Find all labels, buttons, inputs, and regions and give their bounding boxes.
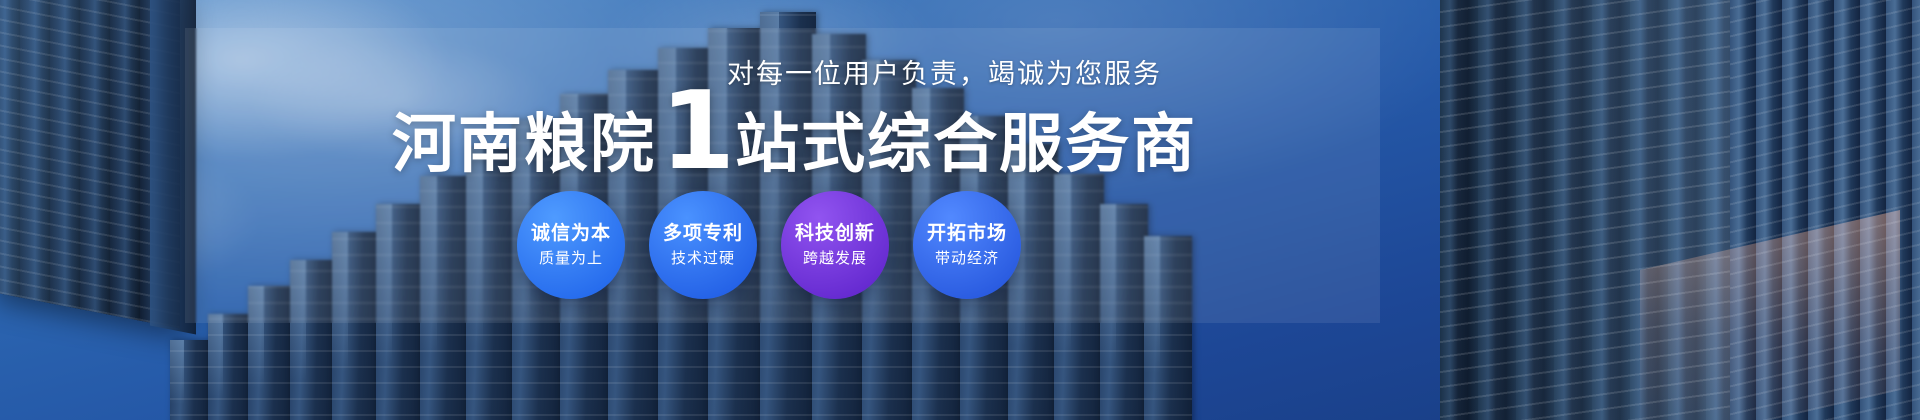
badge-subtitle: 带动经济 <box>935 250 999 267</box>
feature-badge-list: 诚信为本 质量为上 多项专利 技术过硬 科技创新 跨越发展 开拓市场 带动经济 <box>517 191 1045 299</box>
feature-badge[interactable]: 科技创新 跨越发展 <box>781 191 889 299</box>
badge-title: 诚信为本 <box>531 223 611 245</box>
badge-subtitle: 质量为上 <box>539 250 603 267</box>
banner-tagline: 对每一位用户负责，竭诚为您服务 <box>727 52 1162 91</box>
feature-badge[interactable]: 开拓市场 带动经济 <box>913 191 1021 299</box>
badge-subtitle: 技术过硬 <box>671 250 735 267</box>
feature-badge[interactable]: 诚信为本 质量为上 <box>517 191 625 299</box>
headline-numeral: 1 <box>660 88 733 177</box>
banner-headline: 河南粮院 1 站式综合服务商 <box>392 88 1197 177</box>
badge-title: 科技创新 <box>795 223 875 245</box>
headline-suffix: 站式综合服务商 <box>735 113 1197 177</box>
badge-title: 多项专利 <box>663 223 743 245</box>
banner-content: 对每一位用户负责，竭诚为您服务 河南粮院 1 站式综合服务商 诚信为本 质量为上… <box>0 0 1920 420</box>
feature-badge[interactable]: 多项专利 技术过硬 <box>649 191 757 299</box>
headline-prefix: 河南粮院 <box>392 113 656 177</box>
hero-banner: 对每一位用户负责，竭诚为您服务 河南粮院 1 站式综合服务商 诚信为本 质量为上… <box>0 0 1920 420</box>
badge-title: 开拓市场 <box>927 223 1007 245</box>
badge-subtitle: 跨越发展 <box>803 250 867 267</box>
